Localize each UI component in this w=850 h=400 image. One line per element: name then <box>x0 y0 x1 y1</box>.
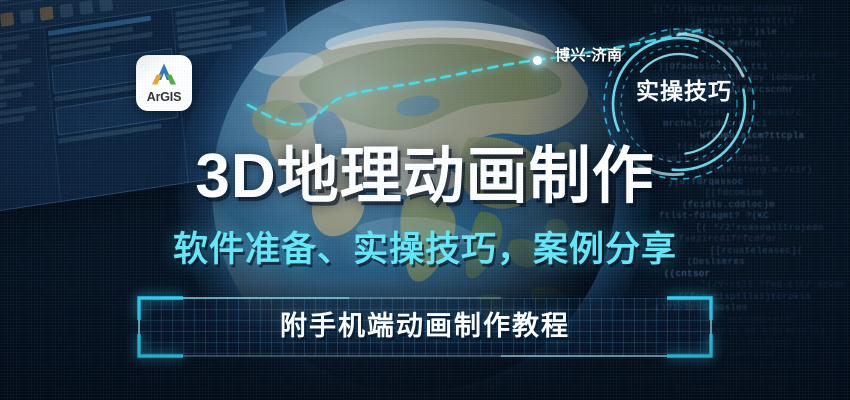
arcgis-wordmark: ArGIS <box>147 91 181 104</box>
ribbon-tool-icon <box>20 8 34 23</box>
code-texture-line: ftlst-fdlagmt? ?(KC <box>659 211 847 223</box>
bottom-highlight-bar: 附手机端动画制作教程 <box>119 294 731 360</box>
ribbon-tool-icon <box>79 0 93 15</box>
page-subtitle: 软件准备、实操技巧，案例分享 <box>0 232 850 267</box>
code-texture-line: (fcromfnoc <box>711 395 847 400</box>
code-texture-line: [(*/))gcestfmdoc imdpoas)) <box>653 4 847 16</box>
code-texture-line: ((cntsor <box>664 269 847 281</box>
ribbon-tool-icon <box>0 11 14 26</box>
titlebar-control-icon <box>0 0 10 2</box>
badge-label: 实操技巧 <box>636 72 732 106</box>
ribbon-tool-icon <box>99 0 113 12</box>
arcgis-logo: ArGIS <box>136 55 192 111</box>
ribbon-tool-icon <box>59 3 73 18</box>
code-texture-line: [(*/))gcestfmdoc imdpoas)) <box>660 361 847 373</box>
course-banner: [(*/))gcestfmdoc imdpoas))))csanslds-css… <box>0 0 850 400</box>
bottom-bar-label: 附手机端动画制作教程 <box>119 310 731 342</box>
page-title: 3D地理动画制作 <box>0 146 850 208</box>
code-texture-line: jtccsprkoi ') ')sle <box>674 384 847 396</box>
code-texture-line: ))csanslds-csstr(s <box>697 372 847 384</box>
code-texture-line: *(/V-ctll ?fmd-clC/ acvmrs <box>701 280 847 292</box>
route-endpoint-marker <box>533 56 542 65</box>
pane-row <box>0 44 18 57</box>
route-marker-label: 博兴-济南 <box>555 44 623 65</box>
arcgis-logo-icon <box>149 62 179 90</box>
pane-row <box>0 115 25 128</box>
ribbon-tool-icon <box>40 6 54 21</box>
